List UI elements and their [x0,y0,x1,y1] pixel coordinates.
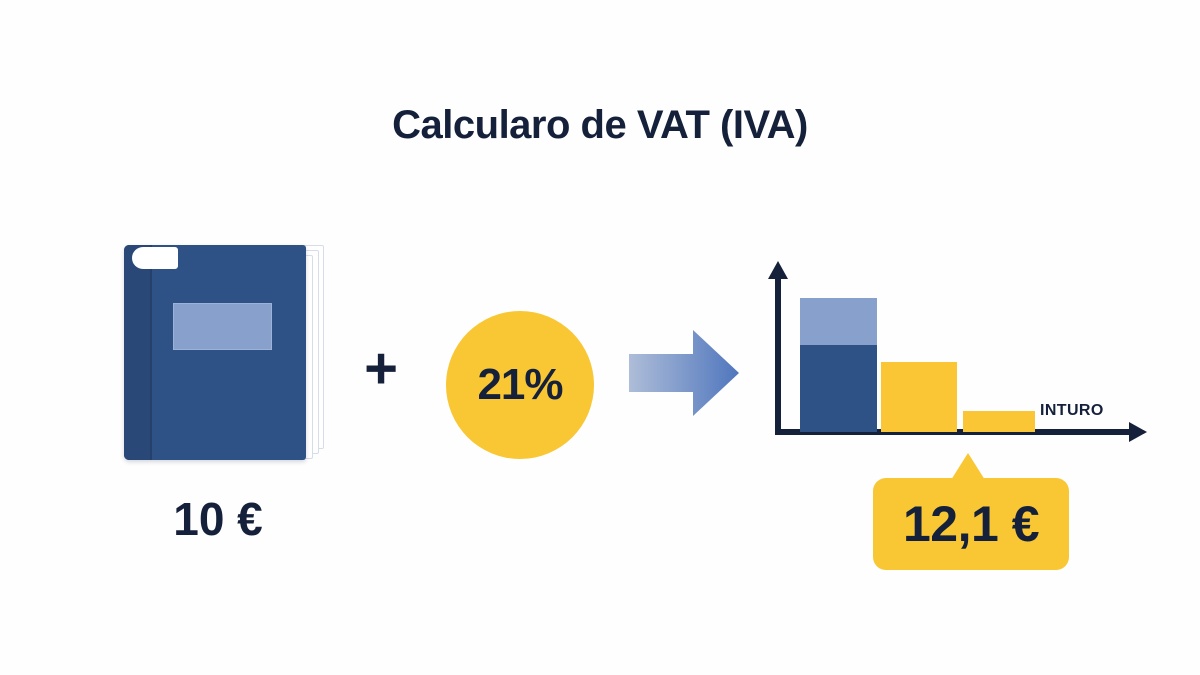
chart-axis-label: INTURO [1040,402,1104,420]
plus-operator-icon: + [358,340,404,400]
book-icon [118,238,318,468]
page-title: Calcularo de VAT (IVA) [0,103,1200,148]
chart-bar-1-vat-segment [800,298,877,345]
book-spine [124,245,152,460]
infographic-canvas: Calcularo de VAT (IVA) 10 € + 21% [0,0,1200,675]
vat-rate-label: 21% [477,360,562,410]
vat-rate-badge: 21% [446,311,594,459]
book-cover-label [173,303,272,350]
chart-bar-3 [963,411,1035,432]
result-bar-chart: INTURO [755,255,1155,455]
total-price-label: 12,1 € [873,478,1069,570]
chart-bar-1-base-segment [800,345,877,432]
book-spine-curl [132,247,178,269]
base-price-label: 10 € [118,492,318,546]
right-arrow-icon [629,326,741,420]
total-price-badge: 12,1 € [873,453,1069,570]
chart-bar-2 [881,362,957,432]
